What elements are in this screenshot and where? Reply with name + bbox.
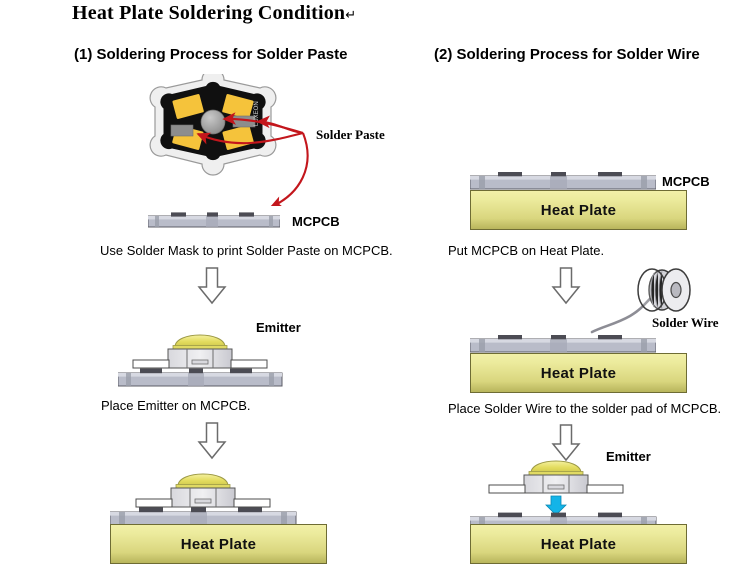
heat-plate-label-left: Heat Plate xyxy=(181,536,257,553)
label-emitter-left: Emitter xyxy=(256,320,301,335)
emitter-lead-right xyxy=(234,499,270,507)
emitter-lead-right xyxy=(587,485,623,493)
mcpcb-strip-left-3 xyxy=(110,507,296,525)
mcpcb-strip-right-2 xyxy=(470,335,656,353)
emitter-body xyxy=(171,488,235,507)
assembly-on-heatplate-right xyxy=(470,455,690,533)
caption-right-step1: Put MCPCB on Heat Plate. xyxy=(448,243,604,258)
star-board-svg: LUXEON xyxy=(140,74,440,206)
solder-pad-left xyxy=(171,125,193,136)
center-thermal-pad xyxy=(201,110,225,134)
mcpcb-strip-left-2 xyxy=(118,369,282,386)
emitter-on-mcpcb-left xyxy=(118,326,318,390)
down-arrow-left-2 xyxy=(197,422,227,460)
column-heading-solder-wire: (2) Soldering Process for Solder Wire xyxy=(434,46,700,63)
star-board-diagram: LUXEON xyxy=(140,74,440,206)
label-mcpcb-right: MCPCB xyxy=(662,174,710,189)
placement-arrow-cyan xyxy=(546,496,566,515)
caption-left-step2: Place Emitter on MCPCB. xyxy=(101,398,251,413)
emitter-body xyxy=(168,349,232,368)
caption-right-step2: Place Solder Wire to the solder pad of M… xyxy=(448,401,721,416)
heat-plate-label-right-3: Heat Plate xyxy=(541,536,617,553)
page-title-pilcrow: ↵ xyxy=(345,7,356,22)
heat-plate-right-1: Heat Plate xyxy=(470,190,687,230)
label-emitter-right: Emitter xyxy=(606,449,651,464)
mcpcb-strip-left-1 xyxy=(148,210,280,230)
heat-plate-label-right-2: Heat Plate xyxy=(541,365,617,382)
emitter-lead-left xyxy=(489,485,525,493)
heat-plate-right-3: Heat Plate xyxy=(470,524,687,564)
mcpcb-strip-right-1 xyxy=(470,172,656,190)
emitter-body xyxy=(524,475,588,493)
assembly-on-heatplate-left xyxy=(110,462,330,532)
heat-plate-label-right-1: Heat Plate xyxy=(541,202,617,219)
page-title-text: Heat Plate Soldering Condition xyxy=(72,2,345,24)
emitter-lead-left xyxy=(136,499,172,507)
label-mcpcb-left: MCPCB xyxy=(292,214,340,229)
label-solder-wire: Solder Wire xyxy=(652,315,719,331)
down-arrow-left-1 xyxy=(197,267,227,305)
heat-plate-right-2: Heat Plate xyxy=(470,353,687,393)
page-title: Heat Plate Soldering Condition↵ xyxy=(72,2,356,25)
caption-left-step1: Use Solder Mask to print Solder Paste on… xyxy=(100,243,393,258)
down-arrow-right-1 xyxy=(551,267,581,305)
emitter-lead-left xyxy=(133,360,169,368)
column-heading-solder-paste: (1) Soldering Process for Solder Paste xyxy=(74,46,347,63)
heat-plate-left: Heat Plate xyxy=(110,524,327,564)
label-solder-paste: Solder Paste xyxy=(316,127,385,143)
emitter-lead-right xyxy=(231,360,267,368)
